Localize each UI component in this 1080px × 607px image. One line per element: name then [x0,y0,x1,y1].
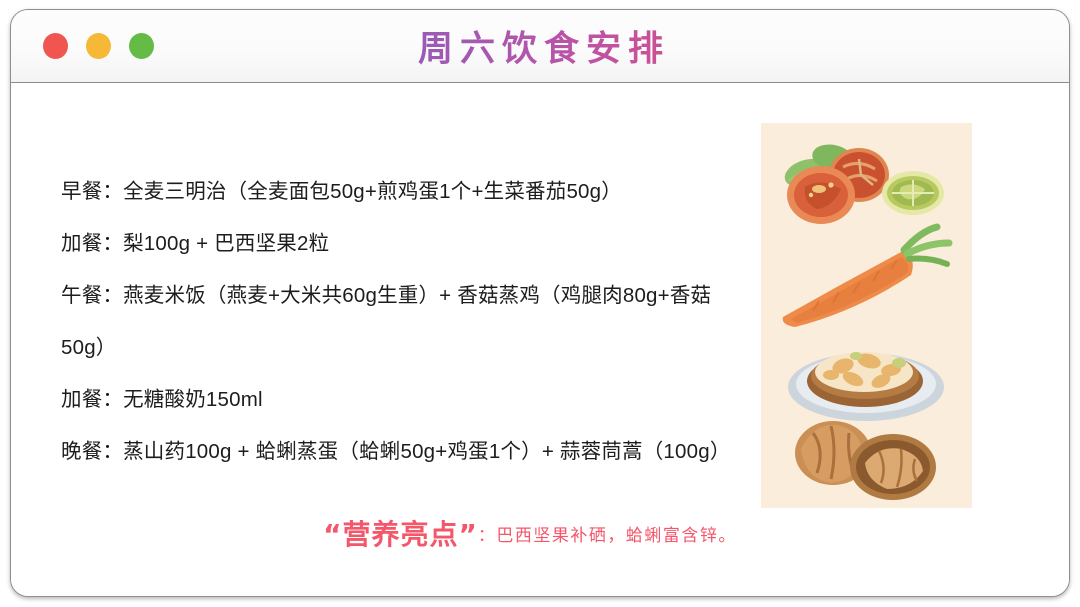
page-title: 周六饮食安排 [11,21,1069,72]
nutrition-highlight-label: “营养亮点” [323,518,478,551]
window-title-bar: 周六饮食安排 [11,10,1069,83]
nutrition-highlight: “营养亮点”：巴西坚果补硒，蛤蜊富含锌。 [11,513,1069,553]
window-body: 早餐：全麦三明治（全麦面包50g+煎鸡蛋1个+生菜番茄50g） 加餐：梨100g… [11,84,1069,596]
food-illustration-icon [761,123,972,508]
meal-line-breakfast: 早餐：全麦三明治（全麦面包50g+煎鸡蛋1个+生菜番茄50g） [61,166,751,218]
meal-line-lunch-continued: 50g） [61,322,751,374]
nutrition-highlight-text: ：巴西坚果补硒，蛤蜊富含锌。 [478,526,737,545]
meal-line-dinner: 晚餐：蒸山药100g + 蛤蜊蒸蛋（蛤蜊50g+鸡蛋1个）+ 蒜蓉茼蒿（100g… [61,426,751,478]
food-image-panel [761,123,972,508]
window-card: 周六饮食安排 早餐：全麦三明治（全麦面包50g+煎鸡蛋1个+生菜番茄50g） 加… [10,9,1070,597]
meal-line-morning-snack: 加餐：梨100g + 巴西坚果2粒 [61,218,751,270]
meal-line-lunch: 午餐：燕麦米饭（燕麦+大米共60g生重）+ 香菇蒸鸡（鸡腿肉80g+香菇 [61,270,751,322]
meal-line-afternoon-snack: 加餐：无糖酸奶150ml [61,374,751,426]
meal-list: 早餐：全麦三明治（全麦面包50g+煎鸡蛋1个+生菜番茄50g） 加餐：梨100g… [61,166,751,478]
